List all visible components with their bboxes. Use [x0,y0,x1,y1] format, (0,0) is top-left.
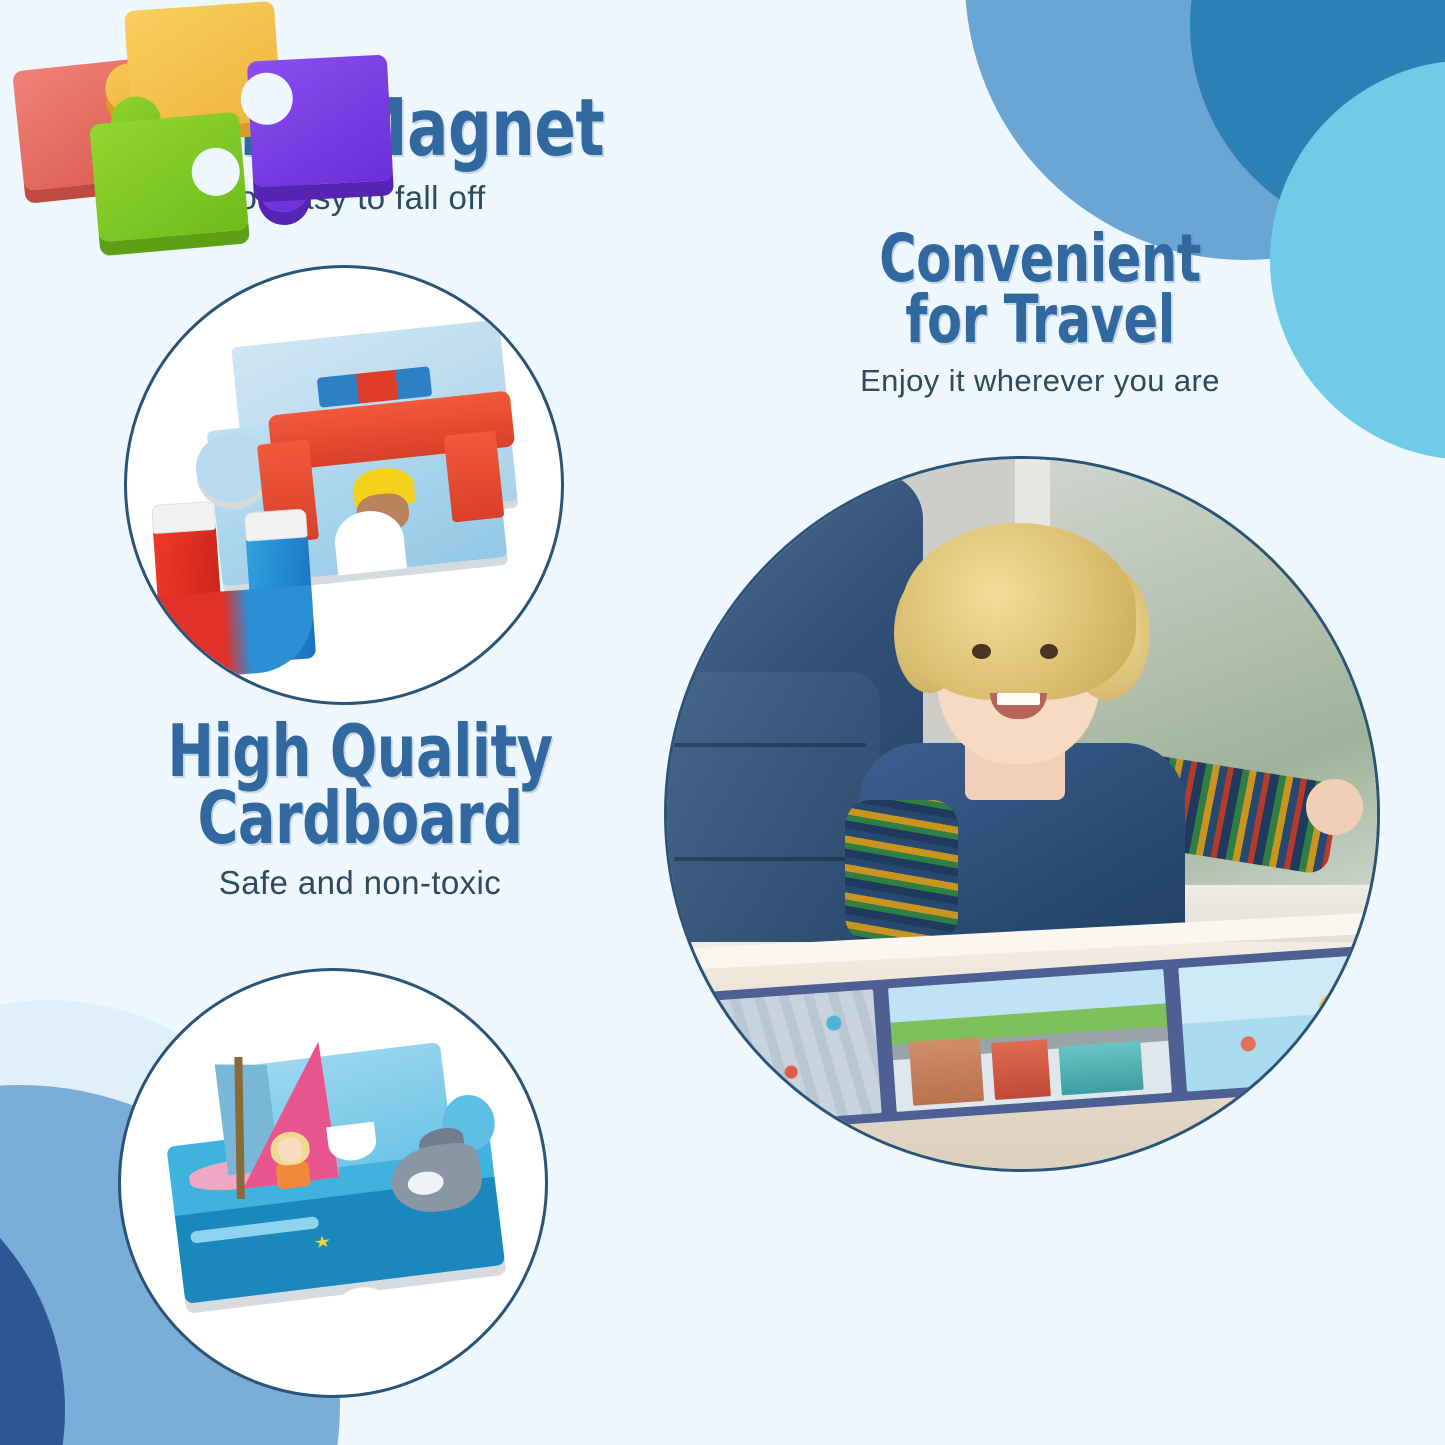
child-with-puzzle-photo [667,459,1377,1169]
puzzle-building-1 [908,1037,984,1107]
child-hair [901,523,1135,701]
puzzle-piece-bottom-notch [333,1284,392,1331]
cardboard-illustration [121,971,545,1395]
feature-convenient-travel-title-line1: Convenient [795,228,1285,289]
child-eye-left [972,644,990,660]
feature-high-quality-cardboard-title-line1: High Quality [81,718,640,785]
magnet-red-tip [151,500,215,533]
puzzle-building-3 [1058,1040,1144,1096]
child-teeth [997,693,1040,704]
fire-truck-right-part-icon [444,430,505,522]
travel-photo-circle [664,456,1380,1172]
puzzle-building-2 [991,1040,1050,1101]
feature-high-quality-cardboard-title-line2: Cardboard [81,785,640,852]
magnet-bend [158,585,318,679]
feature-convenient-travel-text: Convenient for Travel Enjoy it wherever … [755,228,1325,399]
magnet-illustration-circle [124,265,564,705]
cardboard-illustration-circle [118,968,548,1398]
feature-convenient-travel-title-line2: for Travel [795,289,1285,350]
child-hand [1306,779,1363,836]
child-striped-sleeve [845,800,959,942]
seat-seam-upper [674,743,866,747]
puzzle-panel-1 [664,989,881,1130]
feature-convenient-travel-subtitle: Enjoy it wherever you are [755,363,1325,399]
magnet-illustration [127,268,561,702]
sailboat-puzzle-piece [158,1037,509,1329]
green-puzzle-piece [89,112,249,243]
magnet-blue-tip [244,508,308,541]
feature-high-quality-cardboard-text: High Quality Cardboard Safe and non-toxi… [35,718,685,902]
horseshoe-magnet-icon [147,487,368,683]
puzzle-panel-3 [1178,953,1380,1093]
feature-high-quality-cardboard-subtitle: Safe and non-toxic [35,864,685,902]
marketing-infographic: Strong Magnet Not easy to fall off Conve… [0,0,1445,1445]
seat-seam-lower [674,857,866,861]
puzzle-panel-2 [888,969,1172,1113]
purple-puzzle-piece [247,54,393,187]
